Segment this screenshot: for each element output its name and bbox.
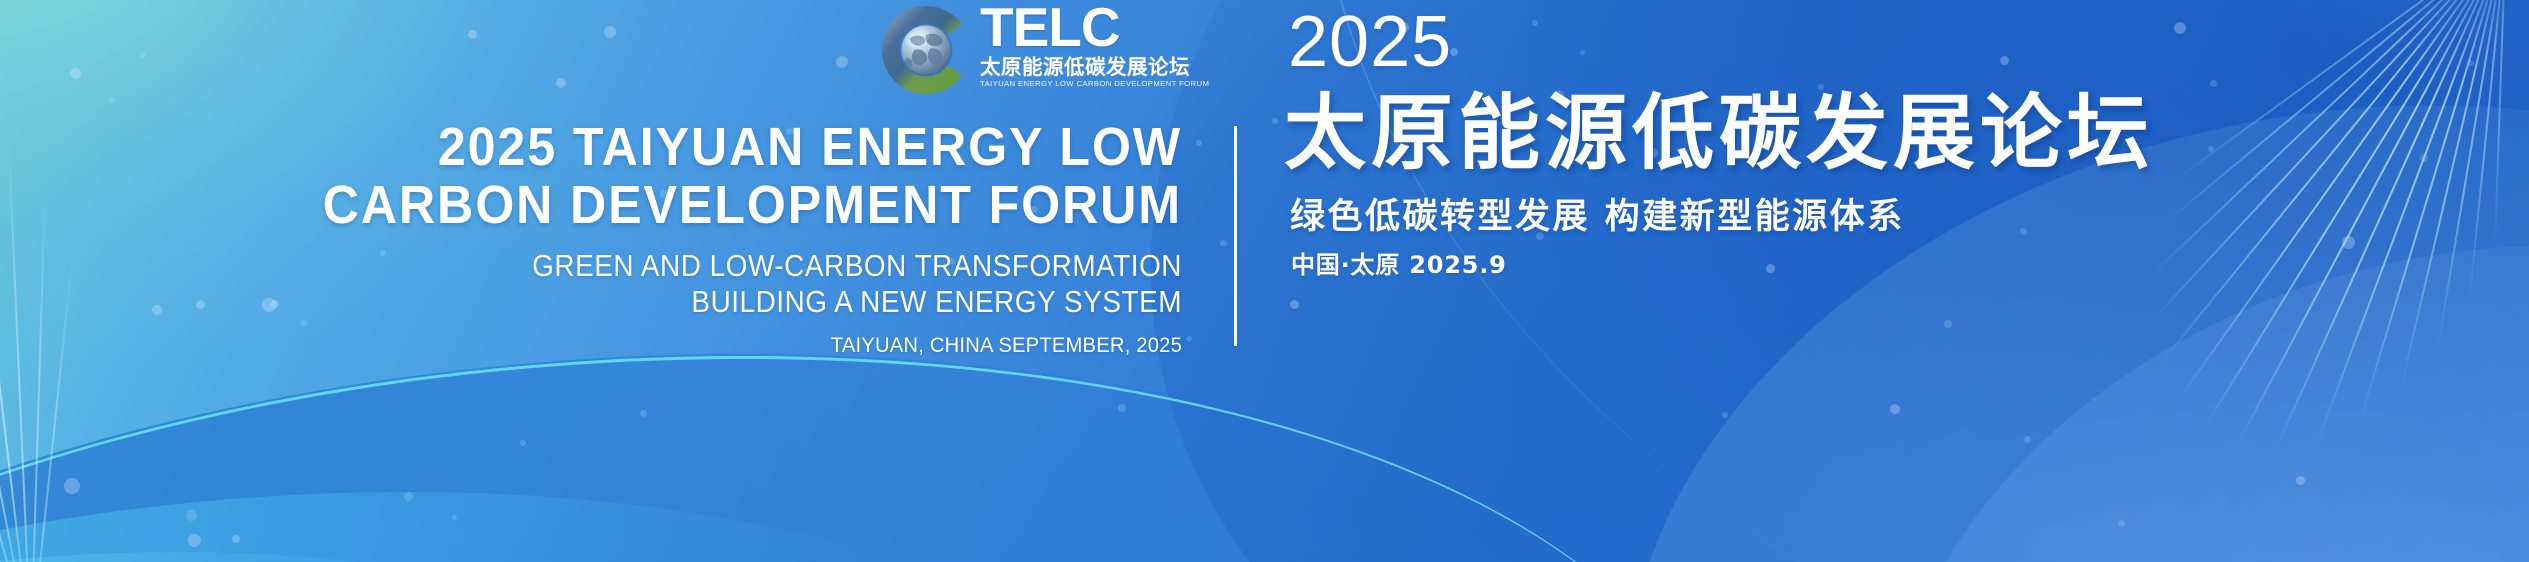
bokeh-dot (468, 30, 477, 39)
light-ray (0, 42, 32, 562)
logo-english-name: TAIYUAN ENERGY LOW CARBON DEVELOPMENT FO… (980, 79, 1198, 89)
logo-chinese-name: 太原能源低碳发展论坛 (980, 56, 1194, 78)
light-ray (0, 251, 31, 562)
bokeh-dot (640, 410, 647, 417)
english-place-date: TAIYUAN, CHINA SEPTEMBER, 2025 (127, 332, 1182, 358)
light-ray (0, 314, 31, 562)
bokeh-dot (1196, 140, 1202, 146)
bokeh-dot (1220, 240, 1227, 247)
chinese-subtitle: 绿色低碳转型发展 构建新型能源体系 (1290, 196, 2154, 238)
telc-globe-c-icon (878, 2, 974, 98)
telc-logo[interactable]: TELC 太原能源低碳发展论坛 TAIYUAN ENERGY LOW CARBO… (878, 0, 1194, 102)
conference-banner: TELC 太原能源低碳发展论坛 TAIYUAN ENERGY LOW CARBO… (0, 0, 2529, 562)
light-ray (0, 0, 32, 562)
bokeh-dot (188, 534, 201, 547)
logo-wordmark: TELC 太原能源低碳发展论坛 TAIYUAN ENERGY LOW CARBO… (980, 0, 1194, 89)
chinese-text-block: 2025 太原能源低碳发展论坛 绿色低碳转型发展 构建新型能源体系 中国·太原 … (1288, 2, 2154, 280)
bottom-wave-light-2 (0, 473, 916, 562)
english-text-block: 2025 TAIYUAN ENERGY LOW CARBON DEVELOPME… (60, 118, 1182, 358)
bokeh-dot (556, 78, 566, 88)
light-ray (30, 190, 46, 562)
english-subtitle-line-1: GREEN AND LOW-CARBON TRANSFORMATION (172, 248, 1182, 284)
light-ray (0, 13, 32, 562)
chinese-place-date: 中国·太原 2025.9 (1291, 250, 2154, 280)
light-ray (0, 133, 31, 562)
vertical-divider (1234, 126, 1237, 346)
light-ray (0, 41, 32, 562)
bokeh-dot (108, 97, 115, 104)
bokeh-dot (452, 515, 457, 520)
light-ray (0, 81, 32, 562)
light-ray (0, 0, 32, 562)
bokeh-dot (140, 52, 146, 58)
light-ray (0, 14, 32, 562)
english-title-line-1: 2025 TAIYUAN ENERGY LOW (139, 118, 1182, 176)
bokeh-dot (1290, 300, 1299, 309)
light-ray (0, 190, 31, 562)
light-ray (0, 82, 32, 562)
bokeh-dot (836, 56, 848, 68)
bokeh-dot (70, 68, 81, 79)
bokeh-dot (404, 492, 413, 501)
chinese-title: 太原能源低碳发展论坛 (1284, 86, 2154, 182)
bokeh-dot (520, 440, 526, 446)
bokeh-dot (186, 510, 197, 521)
english-title-line-2: CARBON DEVELOPMENT FORUM (139, 176, 1182, 234)
bokeh-dot (1186, 336, 1192, 342)
bokeh-dot (64, 478, 80, 494)
bokeh-dot (232, 535, 240, 543)
bottom-wave-light (0, 406, 1279, 562)
bokeh-dot (1272, 118, 1278, 124)
chinese-year: 2025 (1288, 2, 2154, 82)
bokeh-dot (604, 26, 616, 38)
light-ray (0, 376, 31, 562)
light-ray (7, 132, 31, 562)
light-ray (0, 433, 31, 562)
logo-acronym: TELC (980, 0, 1194, 56)
english-subtitle-line-2: BUILDING A NEW ENERGY SYSTEM (172, 284, 1182, 320)
bokeh-dot (1118, 404, 1126, 412)
